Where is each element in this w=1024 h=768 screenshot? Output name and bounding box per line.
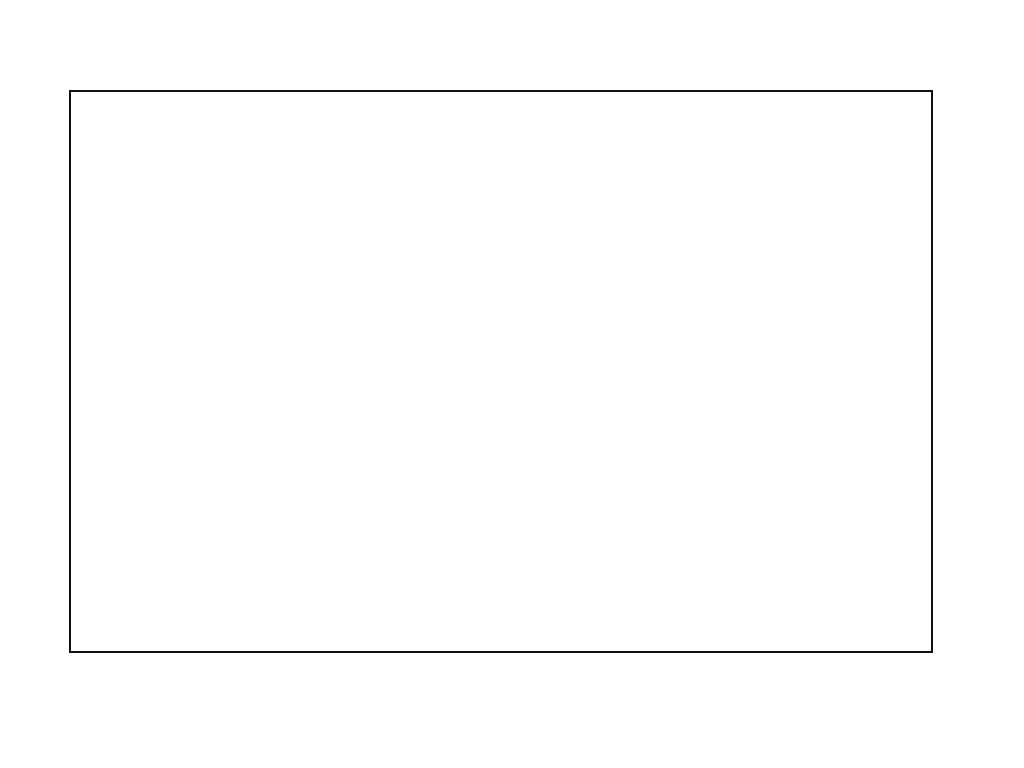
chart-root <box>0 0 1024 768</box>
colorbar-legend <box>946 298 972 484</box>
x-axis <box>0 0 1024 768</box>
